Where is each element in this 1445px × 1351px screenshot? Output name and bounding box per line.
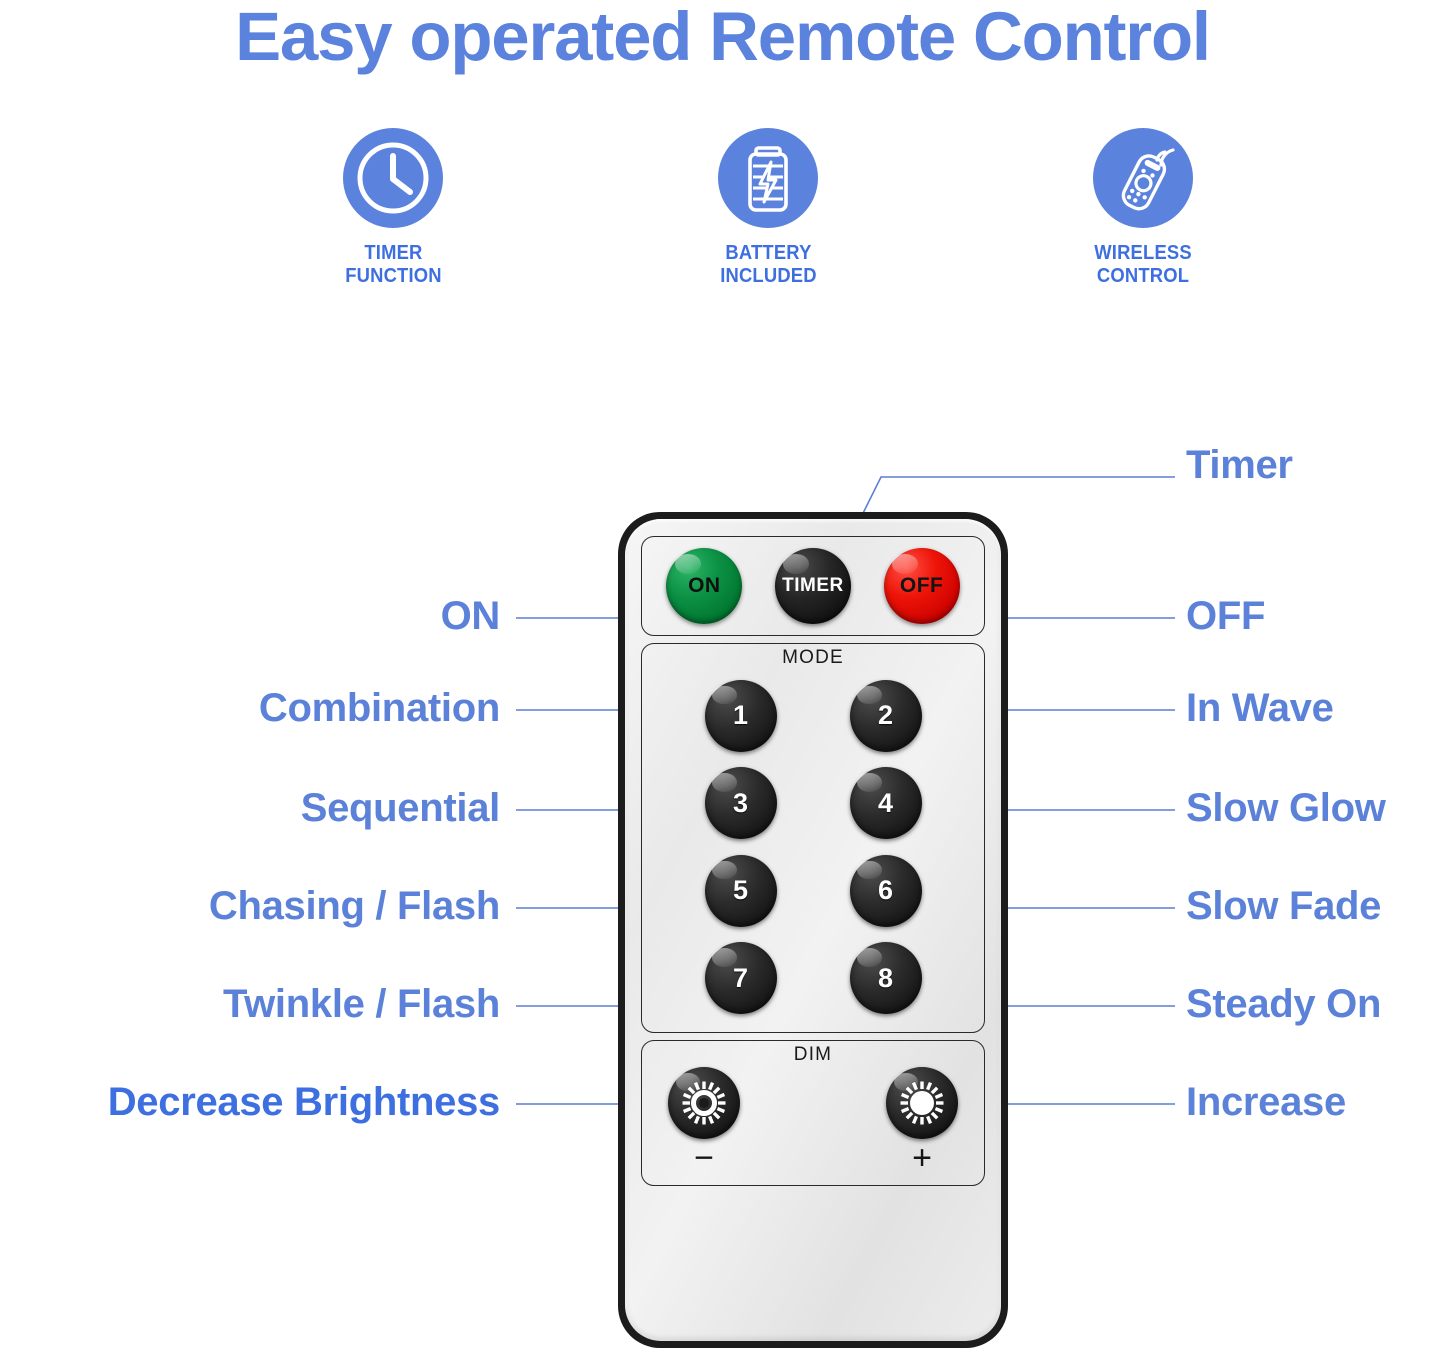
feature-caption-line2: CONTROL xyxy=(1094,265,1192,288)
power-panel: ON TIMER OFF xyxy=(641,536,985,636)
callout-sequential: Sequential xyxy=(301,788,500,828)
dim-down-sign: − xyxy=(694,1141,714,1175)
mode-button-8[interactable]: 8 xyxy=(850,942,922,1014)
feature-caption-line1: BATTERY xyxy=(720,242,817,265)
feature-wireless-control: WIRELESS CONTROL xyxy=(1018,128,1268,288)
callout-slow-fade: Slow Fade xyxy=(1186,886,1381,926)
feature-timer-function: TIMER FUNCTION xyxy=(268,128,518,288)
on-button[interactable]: ON xyxy=(666,548,742,624)
callout-on: ON xyxy=(441,596,500,636)
brightness-low-icon xyxy=(680,1079,728,1127)
brightness-high-icon xyxy=(898,1079,946,1127)
callout-combination: Combination xyxy=(259,688,500,728)
mode-button-6[interactable]: 6 xyxy=(850,855,922,927)
callout-steady-on: Steady On xyxy=(1186,984,1381,1024)
dim-up-sign: + xyxy=(912,1141,932,1175)
callout-slow-glow: Slow Glow xyxy=(1186,788,1386,828)
remote-control-device: ON TIMER OFF MODE 1 2 3 4 5 6 7 8 DIM xyxy=(618,512,1008,1348)
battery-icon xyxy=(718,128,818,228)
mode-button-2[interactable]: 2 xyxy=(850,680,922,752)
callout-chasing-flash: Chasing / Flash xyxy=(209,886,500,926)
mode-button-4[interactable]: 4 xyxy=(850,767,922,839)
callout-timer: Timer xyxy=(1186,445,1293,485)
feature-highlights: TIMER FUNCTION BATTERY INCLUDED xyxy=(268,128,1268,288)
feature-caption-line2: INCLUDED xyxy=(720,265,817,288)
off-button[interactable]: OFF xyxy=(884,548,960,624)
feature-battery-included: BATTERY INCLUDED xyxy=(643,128,893,288)
mode-button-5[interactable]: 5 xyxy=(705,855,777,927)
feature-caption-line1: WIRELESS xyxy=(1094,242,1192,265)
mode-panel-label: MODE xyxy=(642,647,984,669)
feature-caption: TIMER FUNCTION xyxy=(345,242,442,288)
callout-twinkle-flash: Twinkle / Flash xyxy=(223,984,500,1024)
feature-caption-line2: FUNCTION xyxy=(345,265,442,288)
mode-button-1[interactable]: 1 xyxy=(705,680,777,752)
callout-off: OFF xyxy=(1186,596,1265,636)
remote-faceplate: ON TIMER OFF MODE 1 2 3 4 5 6 7 8 DIM xyxy=(625,519,1001,1341)
dim-down-cell: − xyxy=(668,1067,740,1175)
clock-icon xyxy=(343,128,443,228)
mode-panel: MODE 1 2 3 4 5 6 7 8 xyxy=(641,643,985,1033)
remote-signal-icon xyxy=(1093,128,1193,228)
feature-caption: WIRELESS CONTROL xyxy=(1094,242,1192,288)
dim-up-button[interactable] xyxy=(886,1067,958,1139)
callout-increase: Increase xyxy=(1186,1082,1346,1122)
dim-panel: DIM xyxy=(641,1040,985,1186)
dim-up-cell: + xyxy=(886,1067,958,1175)
dim-down-button[interactable] xyxy=(668,1067,740,1139)
feature-caption-line1: TIMER xyxy=(345,242,442,265)
mode-button-7[interactable]: 7 xyxy=(705,942,777,1014)
timer-button[interactable]: TIMER xyxy=(775,548,851,624)
feature-caption: BATTERY INCLUDED xyxy=(720,242,817,288)
callout-decrease-brightness: Decrease Brightness xyxy=(108,1082,500,1122)
callout-in-wave: In Wave xyxy=(1186,688,1334,728)
page-title: Easy operated Remote Control xyxy=(0,2,1445,71)
dim-panel-label: DIM xyxy=(642,1044,984,1066)
mode-button-3[interactable]: 3 xyxy=(705,767,777,839)
